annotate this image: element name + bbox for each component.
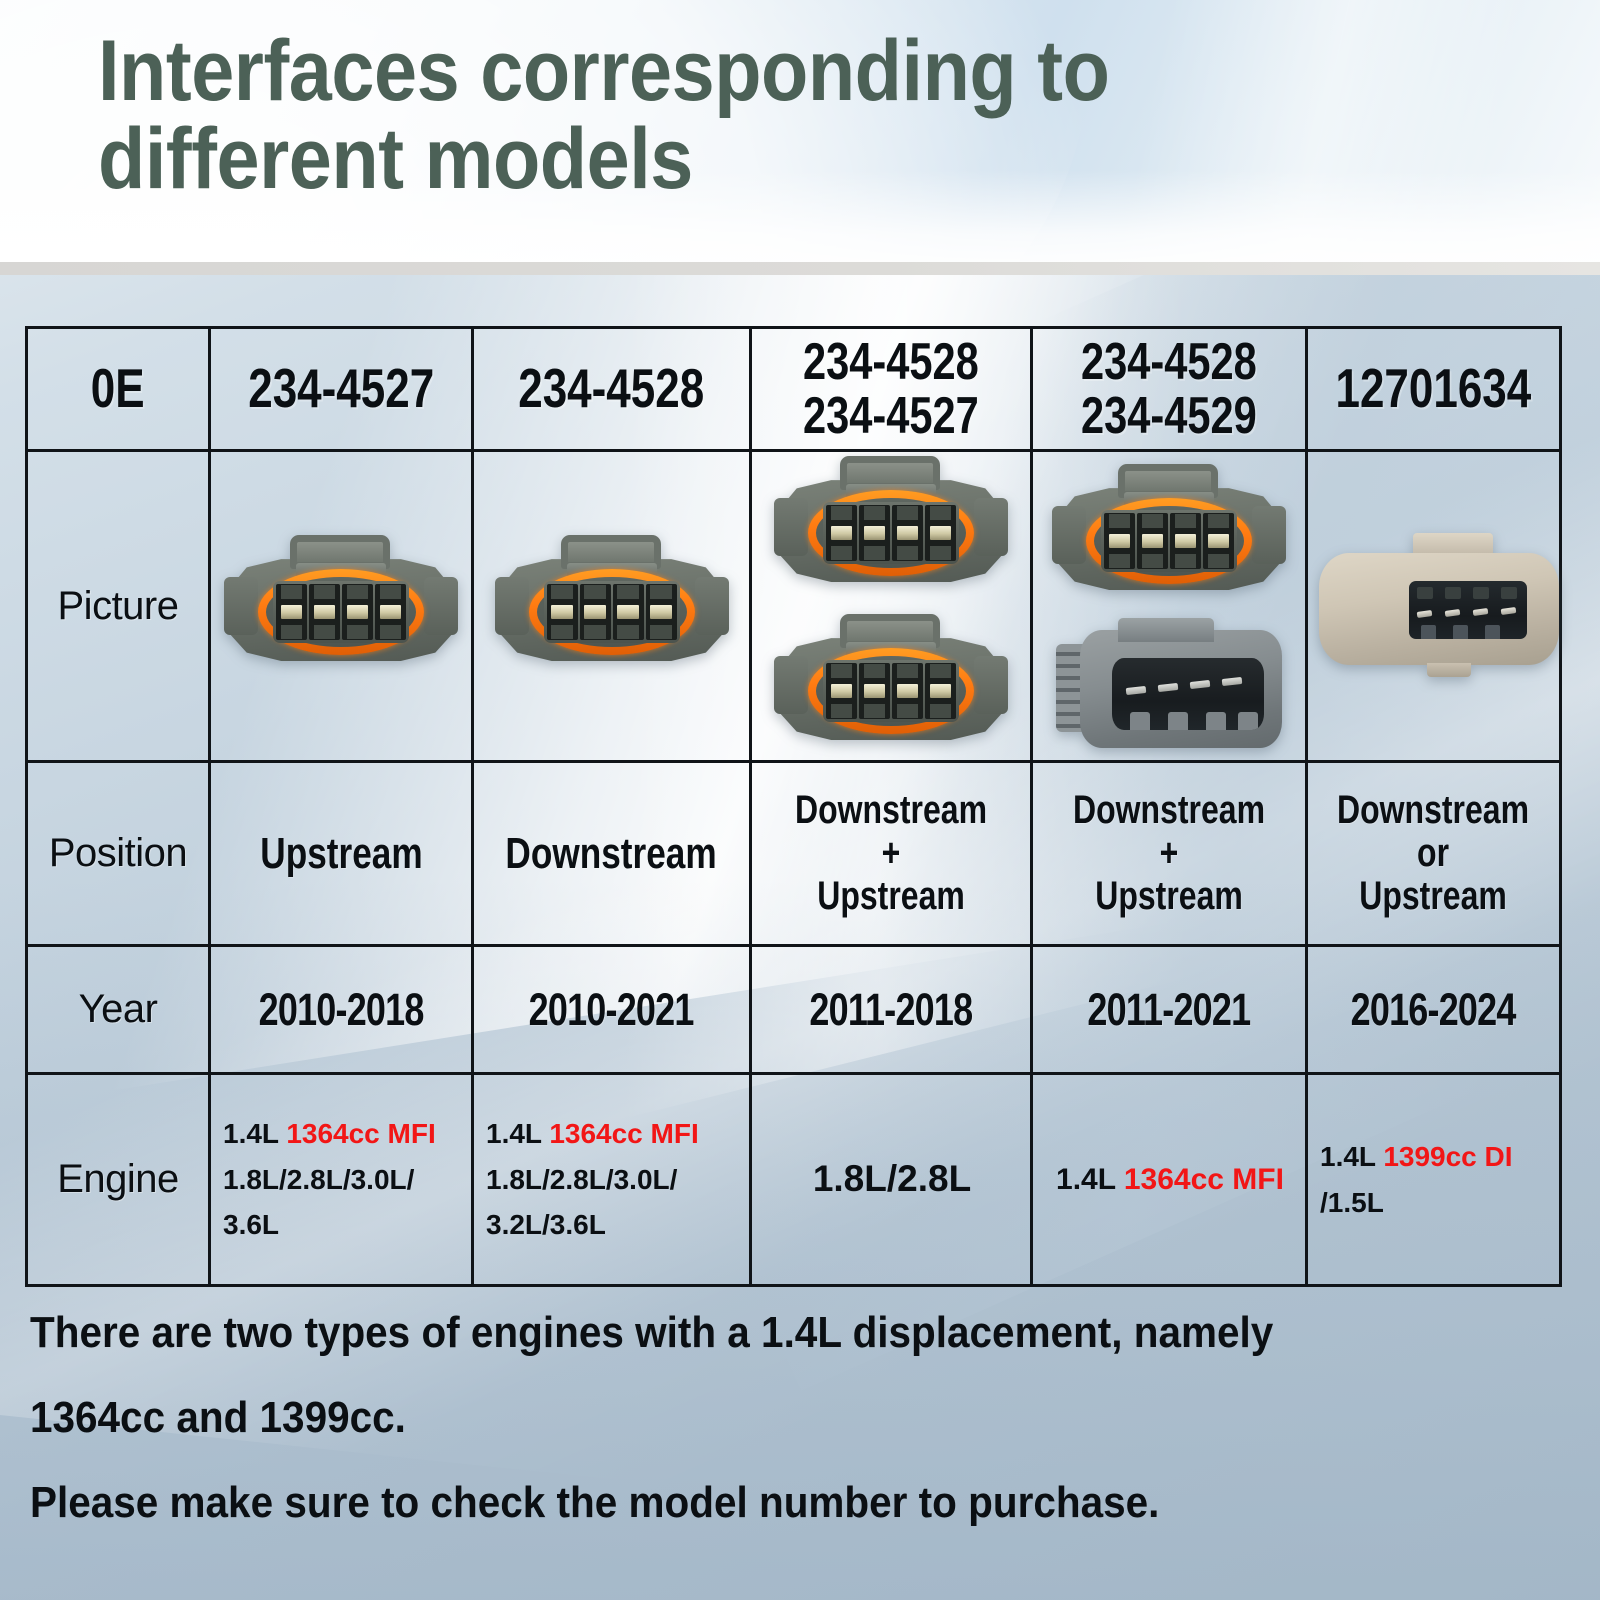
oe-cell-2: 234-4528 bbox=[473, 328, 751, 451]
position-value-4: Downstream + Upstream bbox=[1073, 789, 1265, 919]
engine-cell-3: 1.8L/2.8L bbox=[751, 1074, 1032, 1286]
picture-container-3 bbox=[752, 452, 1030, 760]
position-cell-3: Downstream + Upstream bbox=[751, 762, 1032, 946]
year-value-5: 2016-2024 bbox=[1351, 984, 1516, 1036]
picture-container-2 bbox=[474, 452, 749, 760]
female-connector-orange-seal-icon-bottom bbox=[776, 610, 1006, 760]
engine-text-black: 1.4L bbox=[1056, 1163, 1124, 1196]
year-value-1: 2010-2018 bbox=[259, 984, 424, 1036]
oe-cell-5: 12701634 bbox=[1307, 328, 1561, 451]
position-value-1: Upstream bbox=[260, 830, 422, 878]
engine-value-5: 1.4L 1399cc DI/1.5L bbox=[1320, 1134, 1549, 1225]
row-label-picture: Picture bbox=[27, 451, 210, 762]
picture-cell-3 bbox=[751, 451, 1032, 762]
position-value-2: Downstream bbox=[506, 830, 717, 878]
engine-text-black: 1.8L/2.8L bbox=[813, 1158, 971, 1199]
row-label-year: Year bbox=[27, 946, 210, 1074]
year-value-3: 2011-2018 bbox=[810, 984, 973, 1036]
year-cell-3: 2011-2018 bbox=[751, 946, 1032, 1074]
engine-text-black: 3.2L/3.6L bbox=[486, 1209, 606, 1240]
row-label-oe: 0E bbox=[27, 328, 210, 451]
row-label-engine-text: Engine bbox=[57, 1157, 179, 1201]
engine-cell-4: 1.4L 1364cc MFI bbox=[1032, 1074, 1307, 1286]
male-gray-connector-icon bbox=[1056, 618, 1282, 752]
footer-notes: There are two types of engines with a 1.… bbox=[30, 1300, 1530, 1555]
row-label-oe-text: 0E bbox=[91, 360, 145, 417]
engine-value-2: 1.4L 1364cc MFI1.8L/2.8L/3.0L/3.2L/3.6L bbox=[486, 1111, 739, 1247]
engine-text-highlight: 1399cc DI bbox=[1383, 1141, 1512, 1172]
engine-value-4: 1.4L 1364cc MFI bbox=[1045, 1162, 1295, 1198]
engine-text-black: /1.5L bbox=[1320, 1187, 1384, 1218]
engine-text-highlight: 1364cc MFI bbox=[286, 1118, 435, 1149]
oe-value-4: 234-4528 234-4529 bbox=[1081, 335, 1257, 443]
picture-cell-5 bbox=[1307, 451, 1561, 762]
position-cell-5: Downstream or Upstream bbox=[1307, 762, 1561, 946]
row-label-year-text: Year bbox=[79, 987, 158, 1031]
table-row-year: Year 2010-2018 2010-2021 2011-2018 2011-… bbox=[27, 946, 1561, 1074]
oe-value-3: 234-4528 234-4527 bbox=[803, 335, 979, 443]
female-connector-orange-seal-icon bbox=[497, 531, 727, 681]
note-line-3-text: Please make sure to check the model numb… bbox=[30, 1470, 1410, 1537]
engine-text-black: 3.6L bbox=[223, 1209, 279, 1240]
year-value-2: 2010-2021 bbox=[529, 984, 694, 1036]
picture-container-1 bbox=[211, 452, 471, 760]
page-title: Interfaces corresponding to different mo… bbox=[98, 28, 1268, 203]
position-cell-4: Downstream + Upstream bbox=[1032, 762, 1307, 946]
oe-value-2: 234-4528 bbox=[519, 360, 705, 417]
row-label-position: Position bbox=[27, 762, 210, 946]
female-connector-orange-seal-icon-top bbox=[1054, 460, 1284, 610]
oe-value-5: 12701634 bbox=[1336, 360, 1532, 417]
table-row-picture: Picture bbox=[27, 451, 1561, 762]
header-divider-band bbox=[0, 262, 1600, 275]
year-cell-5: 2016-2024 bbox=[1307, 946, 1561, 1074]
picture-container-4 bbox=[1033, 452, 1305, 760]
oe-value-1: 234-4527 bbox=[248, 360, 434, 417]
engine-cell-2: 1.4L 1364cc MFI1.8L/2.8L/3.0L/3.2L/3.6L bbox=[473, 1074, 751, 1286]
header-banner: Interfaces corresponding to different mo… bbox=[0, 0, 1600, 262]
beige-male-connector-icon bbox=[1309, 531, 1559, 681]
position-value-3: Downstream + Upstream bbox=[795, 789, 987, 919]
note-line-3: Please make sure to check the model numb… bbox=[30, 1470, 1530, 1537]
engine-text-black: 1.8L/2.8L/3.0L/ bbox=[486, 1164, 677, 1195]
position-value-5: Downstream or Upstream bbox=[1337, 789, 1529, 919]
engine-text-black: 1.4L bbox=[1320, 1141, 1383, 1172]
engine-text-highlight: 1364cc MFI bbox=[1124, 1163, 1284, 1196]
engine-text-black: 1.4L bbox=[223, 1118, 286, 1149]
row-label-picture-text: Picture bbox=[58, 584, 179, 628]
note-line-1-text: There are two types of engines with a 1.… bbox=[30, 1300, 1410, 1367]
oe-cell-1: 234-4527 bbox=[210, 328, 473, 451]
picture-cell-1 bbox=[210, 451, 473, 762]
note-line-2-text: 1364cc and 1399cc. bbox=[30, 1385, 1410, 1452]
picture-cell-4 bbox=[1032, 451, 1307, 762]
engine-value-3: 1.8L/2.8L bbox=[764, 1157, 1020, 1201]
note-line-1: There are two types of engines with a 1.… bbox=[30, 1300, 1530, 1367]
table-row-position: Position Upstream Downstream Downstream … bbox=[27, 762, 1561, 946]
year-cell-1: 2010-2018 bbox=[210, 946, 473, 1074]
engine-text-black: 1.4L bbox=[486, 1118, 549, 1149]
year-cell-4: 2011-2021 bbox=[1032, 946, 1307, 1074]
position-cell-2: Downstream bbox=[473, 762, 751, 946]
engine-text-highlight: 1364cc MFI bbox=[549, 1118, 698, 1149]
engine-text-black: 1.8L/2.8L/3.0L/ bbox=[223, 1164, 414, 1195]
engine-cell-1: 1.4L 1364cc MFI1.8L/2.8L/3.0L/3.6L bbox=[210, 1074, 473, 1286]
female-connector-orange-seal-icon-top bbox=[776, 452, 1006, 602]
row-label-position-text: Position bbox=[49, 831, 187, 875]
year-cell-2: 2010-2021 bbox=[473, 946, 751, 1074]
picture-container-5 bbox=[1308, 452, 1559, 760]
spec-table: 0E 234-4527 234-4528 234-4528 234-4527 2… bbox=[25, 326, 1562, 1287]
position-cell-1: Upstream bbox=[210, 762, 473, 946]
row-label-engine: Engine bbox=[27, 1074, 210, 1286]
engine-value-1: 1.4L 1364cc MFI1.8L/2.8L/3.0L/3.6L bbox=[223, 1111, 461, 1247]
table-row-engine: Engine 1.4L 1364cc MFI1.8L/2.8L/3.0L/3.6… bbox=[27, 1074, 1561, 1286]
female-connector-orange-seal-icon bbox=[226, 531, 456, 681]
spec-table-wrapper: 0E 234-4527 234-4528 234-4528 234-4527 2… bbox=[25, 326, 1541, 1287]
note-line-2: 1364cc and 1399cc. bbox=[30, 1385, 1530, 1452]
engine-cell-5: 1.4L 1399cc DI/1.5L bbox=[1307, 1074, 1561, 1286]
product-spec-infographic: Interfaces corresponding to different mo… bbox=[0, 0, 1600, 1600]
picture-cell-2 bbox=[473, 451, 751, 762]
oe-cell-4: 234-4528 234-4529 bbox=[1032, 328, 1307, 451]
oe-cell-3: 234-4528 234-4527 bbox=[751, 328, 1032, 451]
table-row-oe: 0E 234-4527 234-4528 234-4528 234-4527 2… bbox=[27, 328, 1561, 451]
year-value-4: 2011-2021 bbox=[1088, 984, 1251, 1036]
